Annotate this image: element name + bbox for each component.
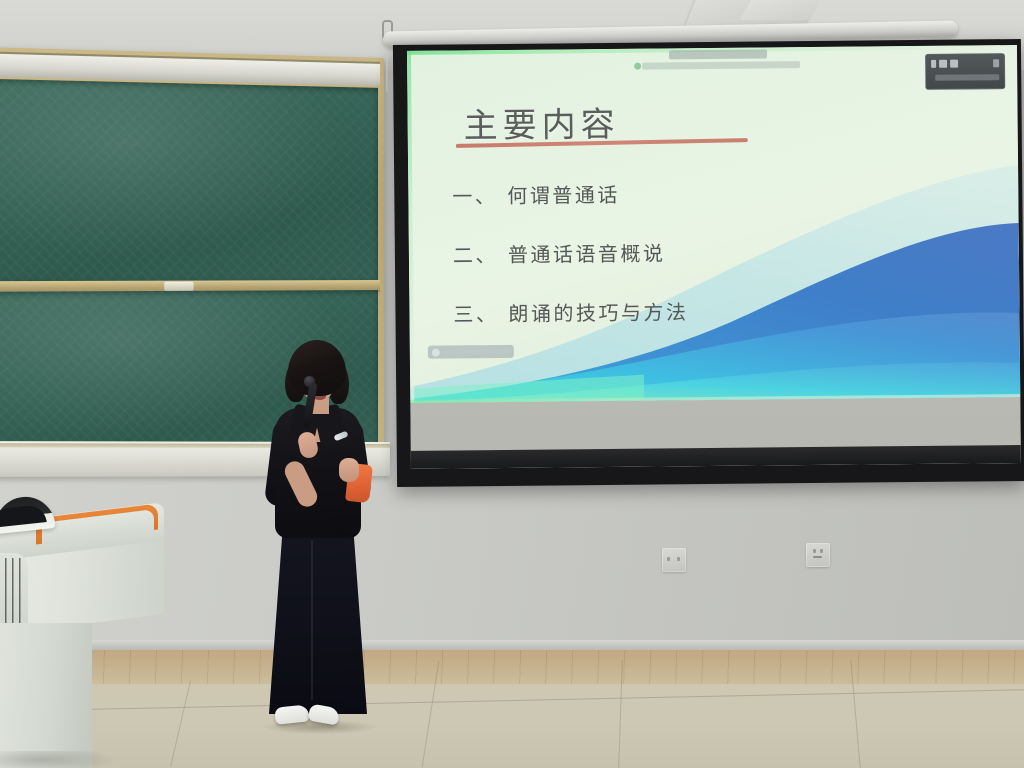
- projection-screen: 主要内容 一、何谓普通话 二、普通话语音概说 三、朗诵的技巧与方法: [393, 39, 1024, 487]
- floating-toolbar-panel[interactable]: [925, 53, 1005, 90]
- grid-icon[interactable]: [939, 60, 947, 68]
- floating-toolbar-field[interactable]: [935, 74, 999, 81]
- presenter-shoe-left: [274, 704, 310, 724]
- projected-slide: 主要内容 一、何谓普通话 二、普通话语音概说 三、朗诵的技巧与方法: [407, 45, 1020, 403]
- chalkboard-panel-upper: [0, 79, 378, 282]
- slide-bottom-toolbar[interactable]: [428, 345, 514, 359]
- slide-title: 主要内容: [463, 97, 619, 147]
- blank-wall-plate[interactable]: [662, 548, 686, 572]
- slide-outline-list: 一、何谓普通话 二、普通话语音概说 三、朗诵的技巧与方法: [452, 177, 784, 357]
- notification-status-icon: [634, 63, 641, 70]
- floating-toolbar-row-bottom: [931, 72, 999, 82]
- slide-list-item-number: 一、: [452, 184, 497, 208]
- slide-list-item: 一、何谓普通话: [452, 177, 782, 209]
- lectern: [0, 505, 166, 768]
- power-socket[interactable]: [806, 543, 830, 567]
- close-icon[interactable]: [993, 59, 999, 67]
- lectern-floor-shadow: [0, 751, 118, 768]
- slide-list-item-number: 三、: [453, 302, 498, 326]
- presenter: [255, 340, 385, 740]
- slide-list-item-text: 朗诵的技巧与方法: [508, 300, 688, 326]
- record-icon[interactable]: [432, 348, 440, 356]
- lectern-column: [0, 623, 92, 768]
- presenter-hair: [288, 340, 346, 396]
- presenter-hand-right: [339, 458, 359, 482]
- slide-list-item: 三、朗诵的技巧与方法: [453, 295, 783, 327]
- classroom-photo: 主要内容 一、何谓普通话 二、普通话语音概说 三、朗诵的技巧与方法: [0, 0, 1024, 768]
- slide-list-item-text: 何谓普通话: [507, 183, 620, 208]
- window-icon[interactable]: [931, 60, 936, 68]
- presenter-trouser-fold: [311, 540, 313, 700]
- slide-list-item-text: 普通话语音概说: [508, 241, 666, 267]
- notification-chip: [669, 49, 767, 59]
- floating-toolbar-row-top: [931, 58, 999, 69]
- slide-list-item: 二、普通话语音概说: [453, 236, 783, 268]
- panel-icon[interactable]: [950, 60, 958, 68]
- chalkboard-slide-knob: [164, 282, 193, 291]
- slide-bottom-toolbar-label: [444, 349, 510, 355]
- notification-text: [644, 59, 796, 70]
- screen-surface: 主要内容 一、何谓普通话 二、普通话语音概说 三、朗诵的技巧与方法: [407, 45, 1021, 469]
- slide-list-item-number: 二、: [453, 243, 498, 267]
- presenter-trousers: [269, 528, 367, 714]
